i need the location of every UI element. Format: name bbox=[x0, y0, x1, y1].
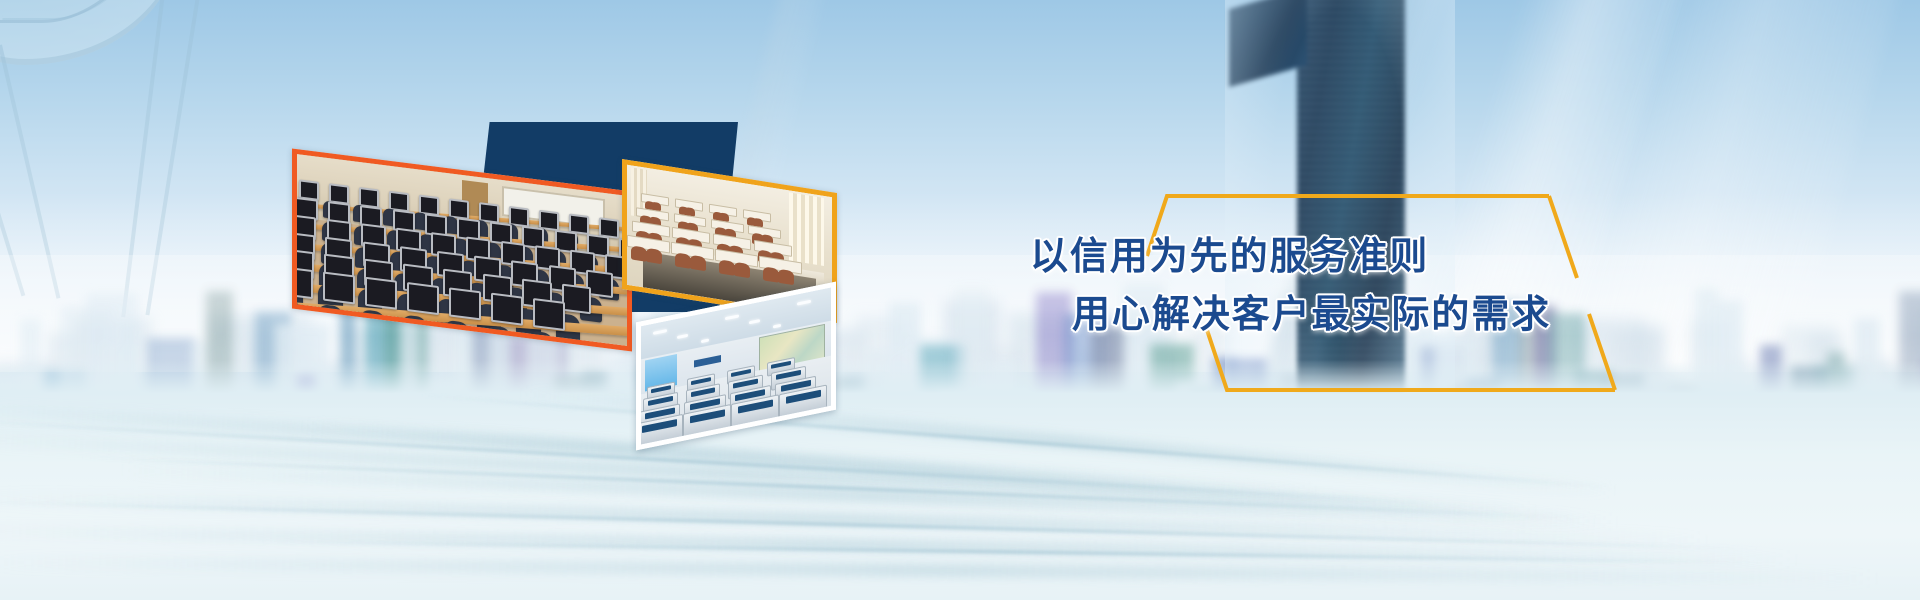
classroom-chair bbox=[719, 260, 735, 276]
classroom-chair bbox=[763, 266, 779, 282]
chair bbox=[485, 325, 512, 346]
curtain bbox=[789, 193, 824, 266]
classroom-chair bbox=[690, 255, 706, 271]
chair bbox=[317, 304, 344, 336]
monitor bbox=[365, 277, 397, 310]
chair bbox=[527, 330, 554, 345]
monitor bbox=[449, 288, 481, 321]
classroom-chair bbox=[778, 269, 794, 285]
chair bbox=[359, 309, 386, 341]
monitor bbox=[407, 282, 439, 315]
slogan-line-2: 用心解决客户最实际的需求 bbox=[1072, 290, 1670, 340]
monitor bbox=[323, 272, 355, 305]
hero-banner: 以信用为先的服务准则 用心解决客户最实际的需求 bbox=[0, 0, 1920, 600]
slogan-line-1: 以信用为先的服务准则 bbox=[1030, 232, 1670, 282]
monitor bbox=[562, 284, 591, 315]
chair bbox=[401, 314, 428, 345]
monitor bbox=[297, 266, 313, 299]
skyscraper-flag bbox=[1229, 0, 1307, 87]
slogan-block: 以信用为先的服务准则 用心解决客户最实际的需求 bbox=[1030, 232, 1670, 340]
monitor bbox=[533, 298, 565, 331]
classroom-chair bbox=[631, 246, 647, 262]
classroom-chair bbox=[646, 248, 662, 264]
monitor bbox=[491, 293, 523, 326]
photo-collage bbox=[0, 0, 1100, 500]
classroom-chair bbox=[675, 253, 691, 269]
classroom-chair bbox=[734, 262, 750, 278]
